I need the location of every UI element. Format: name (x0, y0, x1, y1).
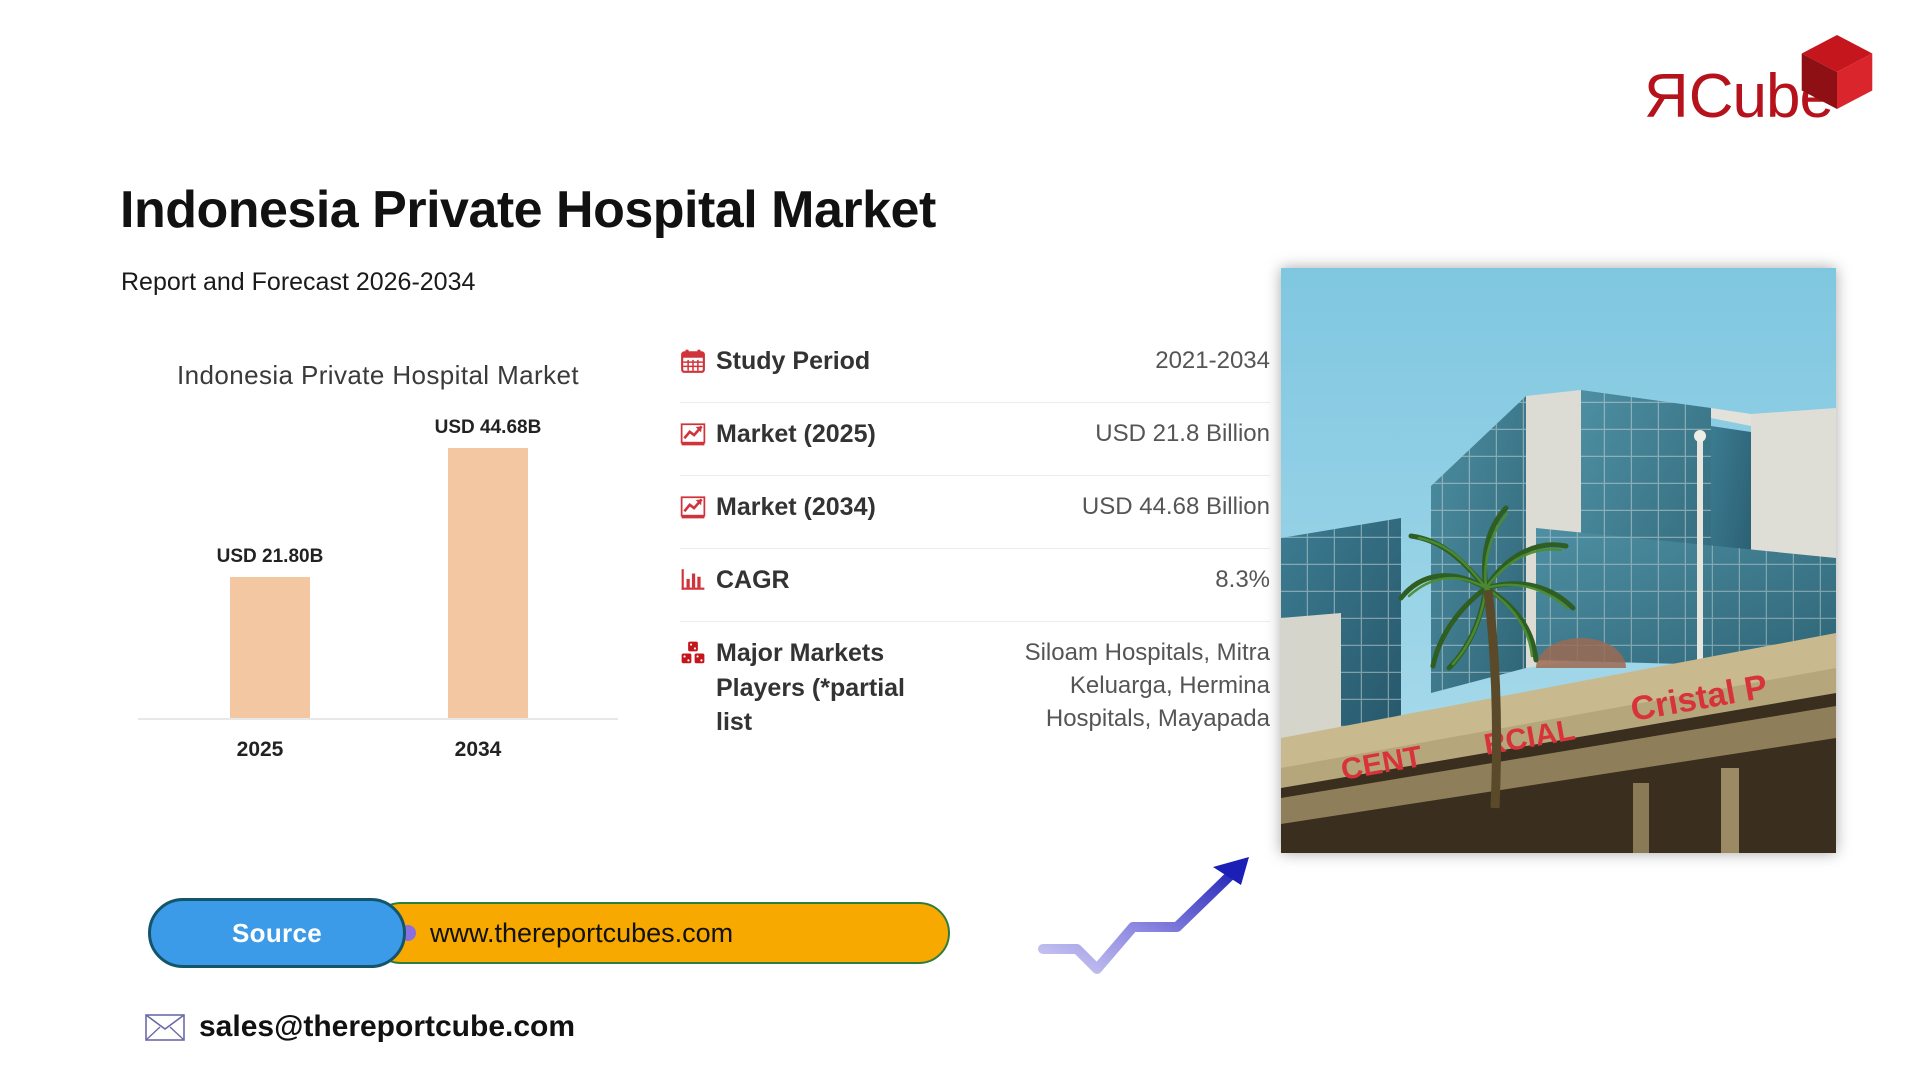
calendar-icon (680, 348, 706, 374)
stats-value: 2021-2034 (1155, 344, 1270, 377)
stats-value: Siloam Hospitals, Mitra Keluarga, Hermin… (970, 636, 1270, 735)
chart-line-icon (680, 494, 706, 520)
stats-label-group: Major Markets Players (*partial list (680, 636, 946, 740)
source-pill-button[interactable]: Source (148, 898, 406, 968)
chart-tick-2025: 2025 (200, 738, 320, 762)
stats-label: Study Period (716, 344, 870, 379)
stats-label-group: CAGR (680, 563, 790, 598)
page-subtitle: Report and Forecast 2026-2034 (121, 268, 475, 297)
hospital-photo-illustration: CENT RCIAL Cristal P (1281, 268, 1836, 853)
contact-email[interactable]: sales@thereportcube.com (199, 1010, 575, 1044)
stats-label: Major Markets Players (*partial list (716, 636, 946, 740)
stats-row-market-2034: Market (2034) USD 44.68 Billion (680, 476, 1270, 549)
stats-label: Market (2025) (716, 417, 876, 452)
page-title: Indonesia Private Hospital Market (120, 180, 936, 240)
chart-x-axis (138, 718, 618, 720)
chart-title: Indonesia Private Hospital Market (128, 360, 628, 391)
market-bar-chart: Indonesia Private Hospital Market USD 21… (128, 360, 628, 780)
stats-label: CAGR (716, 563, 790, 598)
bar-label-2034: USD 44.68B (408, 417, 568, 439)
stats-value: USD 21.8 Billion (1095, 417, 1270, 450)
contact-email-group[interactable]: sales@thereportcube.com (145, 1010, 575, 1044)
stats-label-group: Study Period (680, 344, 870, 379)
stats-row-market-2025: Market (2025) USD 21.8 Billion (680, 403, 1270, 476)
stats-value: USD 44.68 Billion (1082, 490, 1270, 523)
chart-tick-2034: 2034 (418, 738, 538, 762)
stats-row-major-players: Major Markets Players (*partial list Sil… (680, 622, 1270, 754)
source-pill-label: Source (232, 918, 322, 949)
chart-line-icon (680, 421, 706, 447)
stats-row-cagr: CAGR 8.3% (680, 549, 1270, 622)
stats-label: Market (2034) (716, 490, 876, 525)
chart-plot-area: USD 21.80B USD 44.68B (138, 430, 618, 720)
stats-label-group: Market (2025) (680, 417, 876, 452)
cube-icon (1795, 30, 1879, 114)
cubes-icon (680, 640, 706, 666)
bar-label-2025: USD 21.80B (190, 546, 350, 568)
brand-logo: RCube (1645, 38, 1875, 130)
slide-canvas: RCube Indonesia Private Hospital Market … (0, 0, 1920, 1080)
stats-value: 8.3% (1215, 563, 1270, 596)
market-stats-table: Study Period 2021-2034 Market (2025) USD… (680, 330, 1270, 754)
decorative-swoosh-top-left (0, 0, 940, 310)
source-bar[interactable]: www.thereportcubes.com (370, 902, 950, 964)
envelope-icon (145, 1014, 185, 1041)
source-url[interactable]: www.thereportcubes.com (430, 918, 733, 949)
stats-label-group: Market (2034) (680, 490, 876, 525)
bar-chart-icon (680, 567, 706, 593)
upward-trend-arrow-icon (1035, 845, 1295, 985)
stats-row-study-period: Study Period 2021-2034 (680, 330, 1270, 403)
bar-2025 (230, 577, 310, 718)
hospital-photo: CENT RCIAL Cristal P (1281, 268, 1836, 853)
logo-reversed-r-glyph: R (1645, 66, 1689, 128)
bar-2034 (448, 448, 528, 718)
